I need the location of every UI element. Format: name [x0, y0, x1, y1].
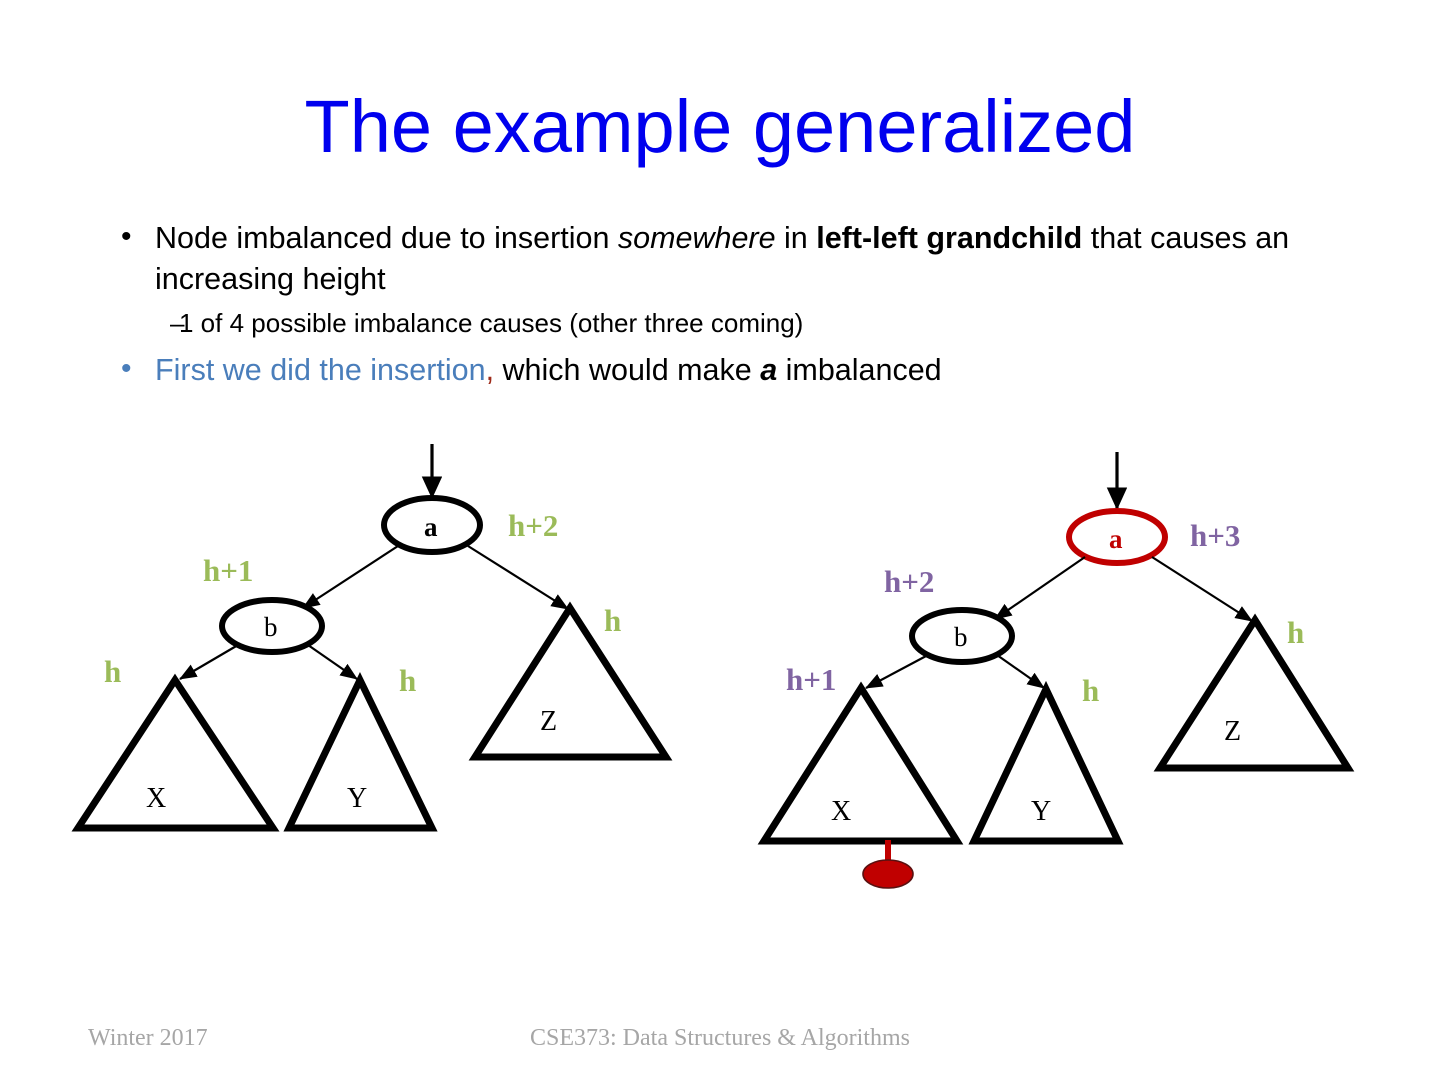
- bullet-2-blue-run: First we did the insertion: [155, 353, 486, 387]
- bullet-marker: •: [121, 217, 132, 257]
- subtree-y-label: Y: [1031, 798, 1051, 826]
- subtree-y-triangle: [974, 689, 1118, 841]
- bullet-item-2: •First we did the insertion, which would…: [113, 350, 1363, 391]
- node-b-label: b: [954, 624, 968, 651]
- bullet-2-part2: which would make: [494, 353, 760, 387]
- node-a-label: a: [1109, 526, 1123, 553]
- page-title: The example generalized: [0, 88, 1440, 166]
- node-a-label: a: [424, 514, 438, 541]
- subtree-z-triangle: [475, 608, 666, 757]
- body-text-block: •Node imbalanced due to insertion somewh…: [113, 218, 1363, 392]
- edge-b-to-x: [866, 655, 928, 688]
- right-tree-group: [764, 452, 1348, 888]
- edge-a-to-z: [468, 546, 568, 609]
- edge-b-to-x: [180, 645, 238, 679]
- subtree-x-label: X: [146, 785, 166, 813]
- sub-bullet-marker: –: [170, 306, 184, 341]
- bullet-1-part1: Node imbalanced due to insertion: [155, 221, 618, 255]
- bullet-marker: •: [121, 349, 132, 389]
- sub-bullet-1-text: 1 of 4 possible imbalance causes (other …: [179, 308, 803, 338]
- node-b-label: b: [264, 614, 278, 641]
- subtree-x-label: X: [831, 798, 851, 826]
- edge-a-to-b: [995, 557, 1085, 619]
- node-b-ellipse: [912, 610, 1012, 662]
- edge-b-to-y: [308, 645, 357, 679]
- subtree-z-label: Z: [540, 708, 557, 736]
- height-label-z: h: [1287, 617, 1304, 648]
- subtree-x-triangle: [764, 688, 957, 841]
- subtree-z-label: Z: [1224, 718, 1241, 746]
- subtree-x-triangle: [78, 680, 273, 828]
- bullet-2-part3: imbalanced: [777, 353, 941, 387]
- height-label-z: h: [604, 605, 621, 636]
- subtree-y-label: Y: [347, 785, 367, 813]
- footer-course: CSE373: Data Structures & Algorithms: [0, 1025, 1440, 1052]
- edge-a-to-z: [1152, 557, 1252, 621]
- height-label-b: h+1: [203, 555, 253, 586]
- subtree-z-triangle: [1160, 620, 1348, 768]
- height-label-x: h+1: [786, 664, 836, 695]
- height-label-y: h: [1082, 675, 1099, 706]
- height-label-y: h: [399, 665, 416, 696]
- node-b-ellipse: [222, 600, 322, 652]
- bullet-1-strong: left-left grandchild: [816, 221, 1082, 255]
- height-label-root: h+2: [508, 510, 558, 541]
- edge-b-to-y: [997, 655, 1044, 688]
- height-label-b: h+2: [884, 566, 934, 597]
- subtree-y-triangle: [289, 680, 432, 828]
- bullet-1-part2: in: [776, 221, 817, 255]
- node-a-ellipse: [1069, 511, 1165, 563]
- bullet-2-emphasis: a: [760, 353, 777, 387]
- bullet-1-emphasis: somewhere: [618, 221, 776, 255]
- sub-bullet-item-1: –1 of 4 possible imbalance causes (other…: [113, 306, 1363, 341]
- height-label-root: h+3: [1190, 520, 1240, 551]
- edge-a-to-b: [303, 546, 398, 608]
- node-a-ellipse: [384, 498, 480, 552]
- height-label-x: h: [104, 656, 121, 687]
- bullet-item-1: •Node imbalanced due to insertion somewh…: [113, 218, 1363, 299]
- bullet-2-comma: ,: [486, 353, 494, 387]
- inserted-node-ellipse: [863, 860, 913, 888]
- left-tree-group: [78, 444, 666, 828]
